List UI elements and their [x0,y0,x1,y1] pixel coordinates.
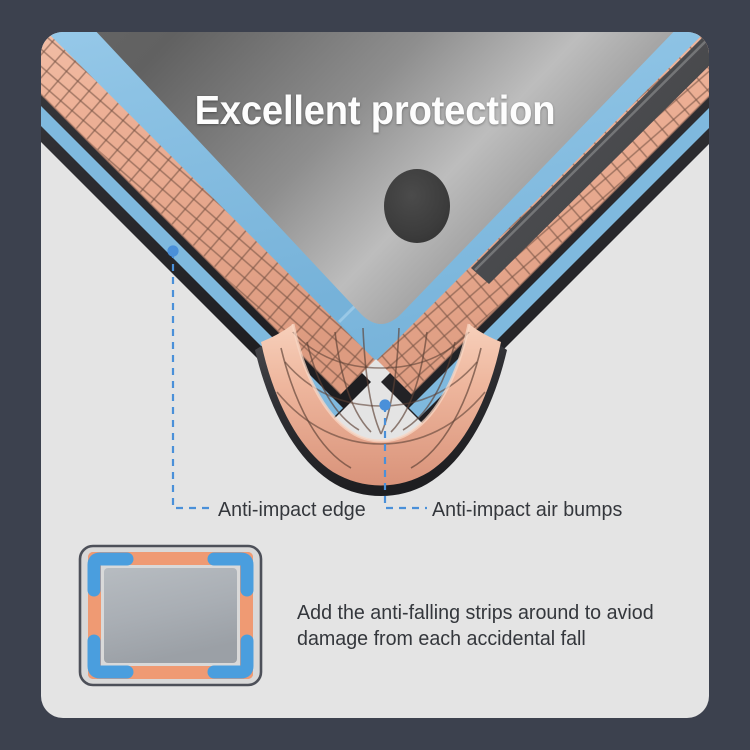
bottom-caption: Add the anti-falling strips around to av… [297,600,681,652]
tablet-outline-icon [77,543,264,688]
product-infographic: Excellent protection Anti-impact edge An… [0,0,750,750]
camera-lens-icon [384,169,450,243]
content-panel: Excellent protection Anti-impact edge An… [41,32,709,718]
product-illustration: Excellent protection [41,32,709,502]
